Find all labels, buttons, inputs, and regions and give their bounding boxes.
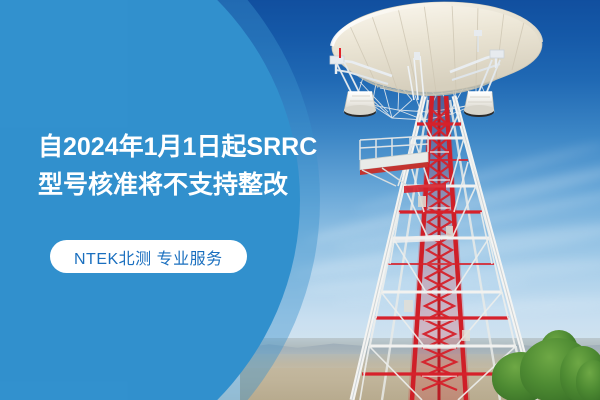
headline-line-1: 自2024年1月1日起SRRC	[38, 133, 317, 161]
cta-button[interactable]: NTEK北测 专业服务	[50, 240, 247, 273]
headline-line-2: 型号核准将不支持整改	[38, 166, 338, 204]
promo-banner: 自2024年1月1日起SRRC 型号核准将不支持整改 NTEK北测 专业服务	[0, 0, 600, 400]
headline: 自2024年1月1日起SRRC 型号核准将不支持整改	[38, 128, 338, 204]
cta-button-label: NTEK北测 专业服务	[74, 245, 223, 269]
pine-tree	[576, 360, 600, 400]
